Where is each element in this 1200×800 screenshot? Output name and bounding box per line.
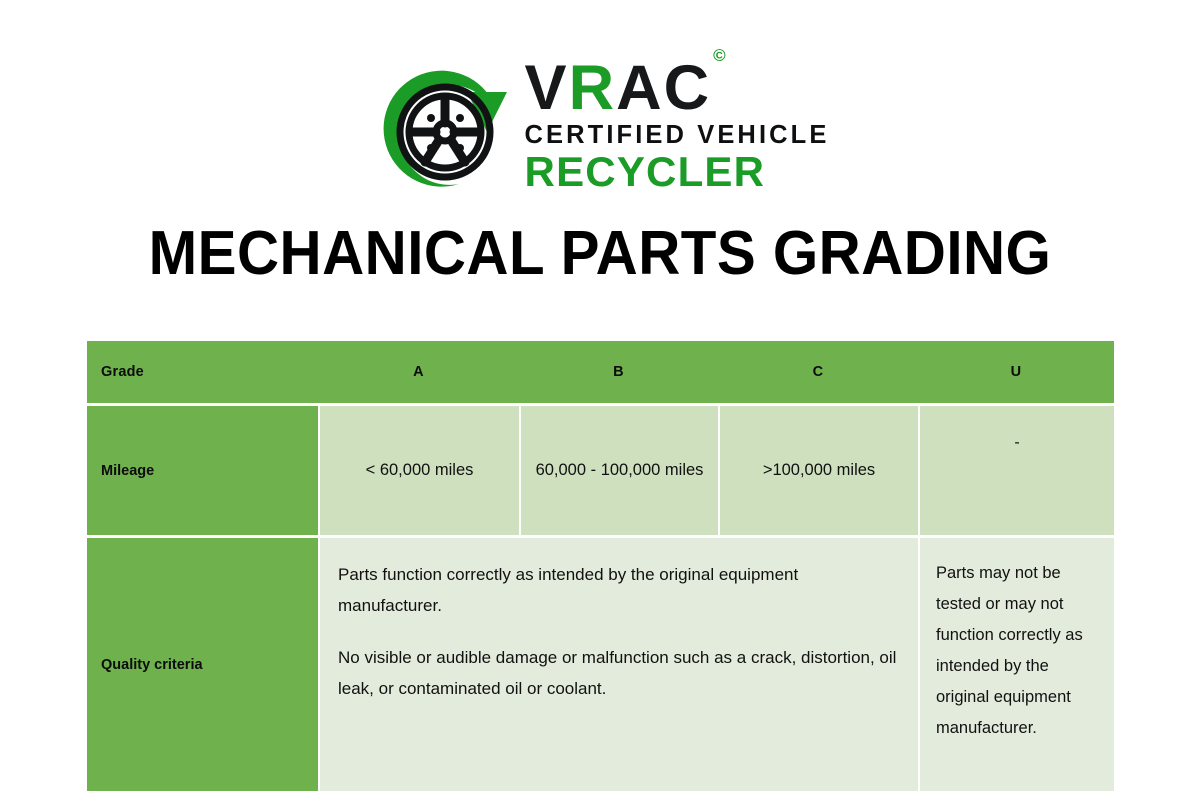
table-row-mileage: Mileage < 60,000 miles 60,000 - 100,000 … (87, 403, 1114, 535)
brand-logo: VRAC© CERTIFIED VEHICLE RECYCLER (0, 52, 1200, 200)
header-grade-label: Grade (87, 341, 318, 403)
brand-tagline: CERTIFIED VEHICLE (525, 121, 830, 150)
quality-criteria-paragraph-1: Parts function correctly as intended by … (338, 560, 902, 622)
page-title: MECHANICAL PARTS GRADING (36, 218, 1164, 289)
mileage-grade-b: 60,000 - 100,000 miles (519, 403, 718, 535)
brand-letter-v: V (525, 53, 569, 123)
header-grade-c: C (718, 341, 918, 403)
recycling-arrow-wheel-icon (371, 52, 519, 200)
header-grade-b: B (519, 341, 718, 403)
brand-letters-ac: AC (616, 53, 711, 123)
table-header-row: Grade A B C U (87, 341, 1114, 403)
brand-logo-inner: VRAC© CERTIFIED VEHICLE RECYCLER (371, 52, 830, 200)
mileage-grade-a: < 60,000 miles (318, 403, 519, 535)
quality-criteria-paragraph-2: No visible or audible damage or malfunct… (338, 643, 902, 705)
brand-letter-r: R (569, 53, 617, 123)
row-label-quality-criteria: Quality criteria (87, 535, 318, 791)
mileage-grade-u: - (918, 403, 1114, 535)
copyright-icon: © (713, 46, 726, 65)
header-grade-a: A (318, 341, 519, 403)
quality-criteria-grade-u: Parts may not be tested or may not funct… (918, 535, 1114, 791)
brand-recycler: RECYCLER (525, 151, 766, 194)
brand-wordmark: VRAC© CERTIFIED VEHICLE RECYCLER (525, 58, 830, 194)
row-label-mileage: Mileage (87, 403, 318, 535)
brand-name-vrac: VRAC© (525, 60, 724, 118)
mechanical-parts-grading-table: Grade A B C U Mileage < 60,000 miles 60,… (87, 341, 1114, 791)
quality-criteria-grades-abc: Parts function correctly as intended by … (318, 535, 918, 791)
table-row-quality-criteria: Quality criteria Parts function correctl… (87, 535, 1114, 791)
header-grade-u: U (918, 341, 1114, 403)
mileage-grade-c: >100,000 miles (718, 403, 918, 535)
